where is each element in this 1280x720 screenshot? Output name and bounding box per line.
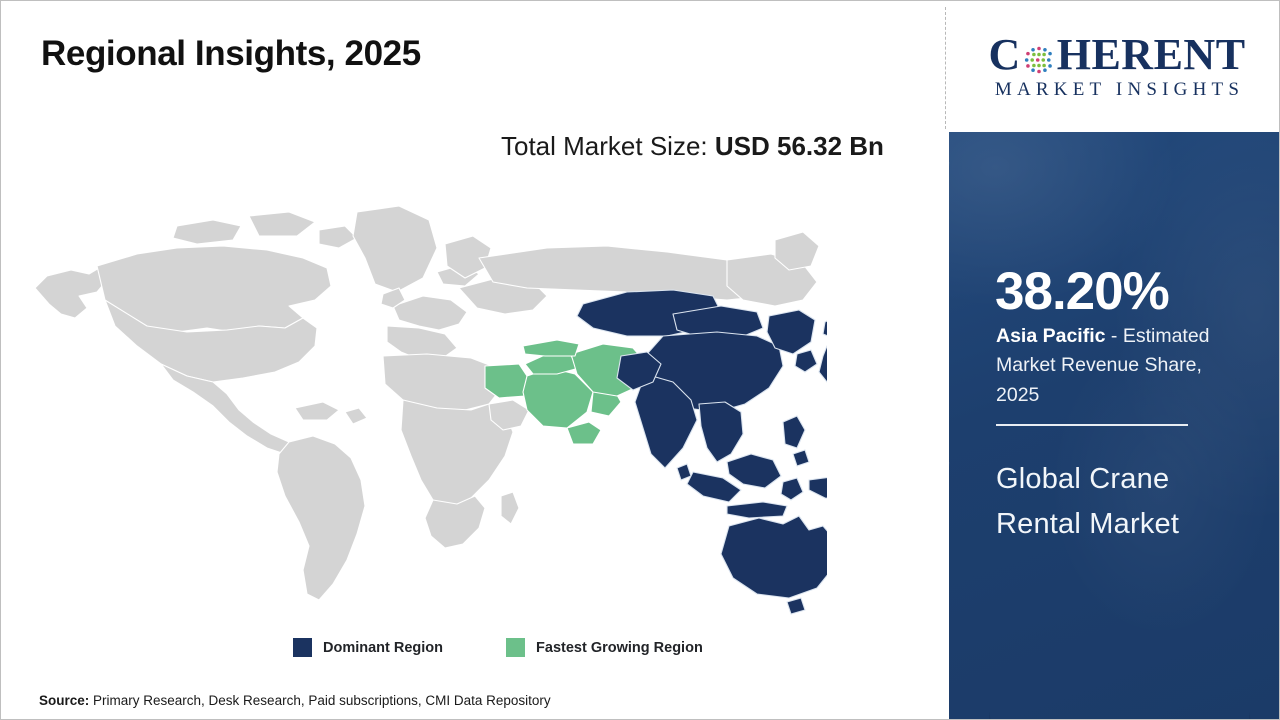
legend-item-dominant: Dominant Region [293,638,443,657]
source-text: Primary Research, Desk Research, Paid su… [89,693,550,708]
stat-description: Asia Pacific - Estimated Market Revenue … [996,322,1240,410]
stat-percent-value: 38.20% [995,265,1169,318]
vertical-dashed-divider [945,7,946,129]
dotted-globe-icon [1022,41,1056,75]
map-region-dominant [577,290,827,614]
source-label: Source: [39,693,89,708]
panel-background-texture [949,132,1280,720]
panel-horizontal-divider [996,424,1188,426]
logo-letter-c: C [988,33,1020,77]
total-market-size-value: USD 56.32 Bn [715,131,884,161]
logo-letters-herent: HERENT [1057,33,1246,77]
page-title: Regional Insights, 2025 [41,34,421,74]
left-content-pane: Regional Insights, 2025 Total Market Siz… [1,1,945,719]
square-swatch-icon-dominant [293,638,312,657]
world-map-svg [27,196,827,616]
legend-label-fastest-growing: Fastest Growing Region [536,640,703,656]
stat-region-name: Asia Pacific [996,325,1105,347]
map-legend: Dominant Region Fastest Growing Region [293,638,703,657]
square-swatch-icon-fastest-growing [506,638,525,657]
legend-item-fastest-growing: Fastest Growing Region [506,638,703,657]
stat-panel: 38.20% Asia Pacific - Estimated Market R… [949,132,1280,720]
world-map [27,196,827,616]
brand-logo: C [953,1,1280,132]
logo-tagline: MARKET INSIGHTS [990,79,1244,101]
total-market-size: Total Market Size: USD 56.32 Bn [501,127,911,166]
regional-insights-infographic: Regional Insights, 2025 Total Market Siz… [0,0,1280,720]
logo-wordmark: C [988,33,1245,77]
market-name: Global Crane Rental Market [996,457,1246,546]
legend-label-dominant: Dominant Region [323,640,443,656]
total-market-size-label: Total Market Size: [501,131,715,161]
source-note: Source: Primary Research, Desk Research,… [39,693,551,708]
